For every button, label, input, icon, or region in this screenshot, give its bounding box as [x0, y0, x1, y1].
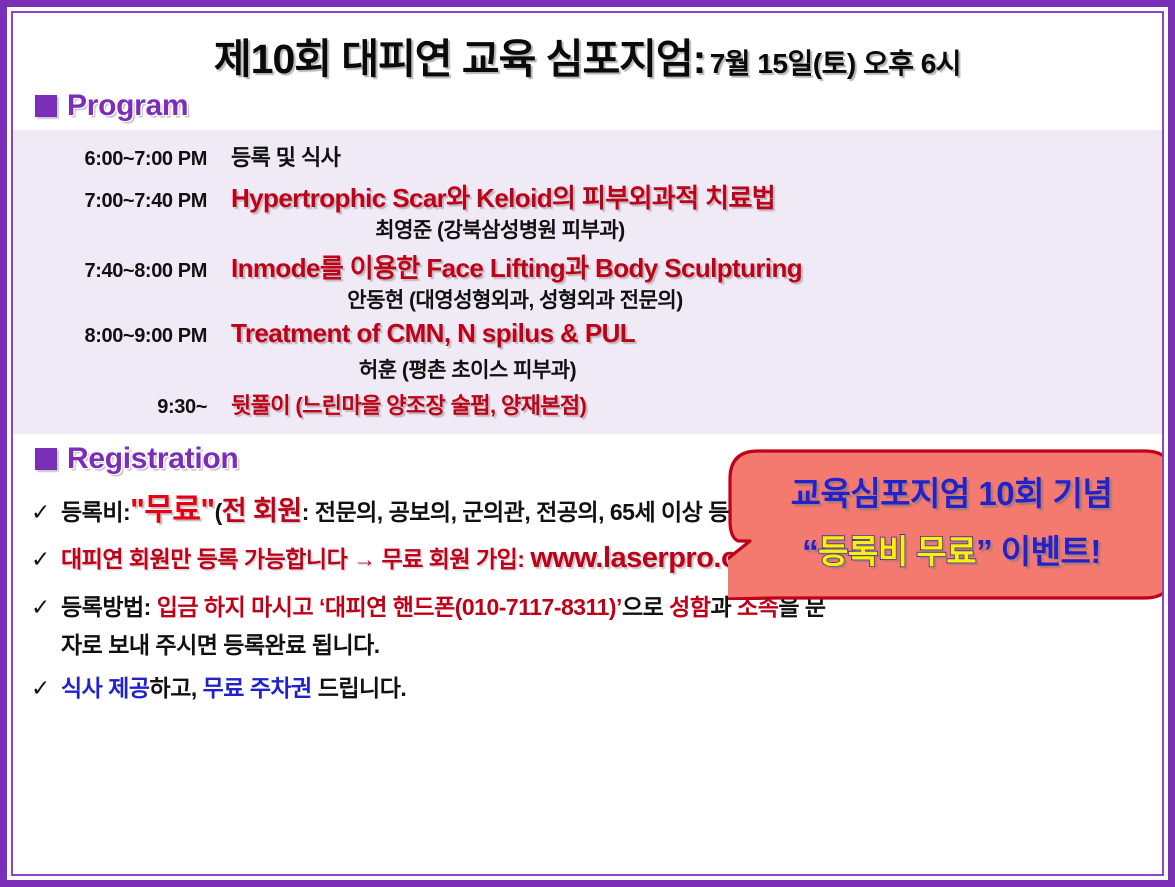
program-title: Hypertrophic Scar와 Keloid의 피부외과적 치료법	[231, 178, 1162, 215]
table-row: 7:00~7:40 PM Hypertrophic Scar와 Keloid의 …	[13, 178, 1162, 216]
program-title: Inmode를 이용한 Face Lifting과 Body Sculpturi…	[231, 248, 1162, 285]
checkmark-icon: ✓	[31, 501, 61, 524]
program-speaker: 허훈 (평촌 초이스 피부과)	[13, 354, 1162, 384]
text-run: : 전문의, 공보의, 군의관, 전공의, 65세 이상 등	[302, 499, 735, 525]
text-run: 무료 주차권	[203, 675, 312, 701]
program-title: 뒷풀이 (느린마을 양조장 술펍, 양재본점)	[231, 388, 1162, 420]
callout-quote-open: “	[802, 533, 818, 570]
callout-tail: 이벤트!	[992, 533, 1101, 570]
poster-frame: 제10회 대피연 교육 심포지엄: 7월 15일(토) 오후 6시 Progra…	[0, 0, 1175, 887]
text-run: 식사 제공	[61, 675, 150, 701]
text-run: 대피연 회원만 등록 가능합니다 → 무료 회원 가입:	[61, 546, 530, 572]
checkmark-icon: ✓	[31, 548, 61, 571]
text-run: 전 회원	[222, 496, 302, 526]
text-run: 으로	[622, 594, 669, 620]
callout-highlight: 등록비 무료	[818, 533, 976, 570]
callout-line-1: 교육심포지엄 10회 기념	[728, 467, 1164, 515]
text-run: 하고,	[150, 675, 203, 701]
text-run: 성함	[669, 594, 710, 620]
program-time: 6:00~7:00 PM	[13, 148, 231, 171]
callout-quote-close: ”	[976, 533, 992, 570]
table-row: 9:30~ 뒷풀이 (느린마을 양조장 술펍, 양재본점)	[13, 388, 1162, 426]
text-run: 입금 하지 마시고 ‘대피연 핸드폰(010-7117-8311)’	[157, 594, 622, 620]
table-row: 8:00~9:00 PM Treatment of CMN, N spilus …	[13, 318, 1162, 356]
section-label-program: Program	[67, 89, 188, 123]
program-time: 9:30~	[13, 396, 231, 419]
section-label-registration: Registration	[67, 442, 238, 476]
registration-method-text-cont: 자로 보내 주시면 등록완료 됩니다.	[61, 626, 1148, 660]
program-speaker: 최영준 (강북삼성병원 피부과)	[13, 214, 1162, 244]
list-item-continuation: 자로 보내 주시면 등록완료 됩니다.	[13, 626, 1162, 660]
page-title: 제10회 대피연 교육 심포지엄: 7월 15일(토) 오후 6시	[13, 13, 1162, 85]
checkmark-icon: ✓	[31, 677, 61, 700]
text-run: 등록비:	[61, 499, 130, 525]
promo-callout-bubble: 교육심포지엄 10회 기념 “등록비 무료” 이벤트!	[728, 449, 1164, 600]
callout-line-2: “등록비 무료” 이벤트!	[728, 525, 1164, 573]
program-time: 7:40~8:00 PM	[13, 260, 231, 283]
text-run: "무료"	[130, 492, 214, 527]
program-title: Treatment of CMN, N spilus & PUL	[231, 318, 1162, 349]
title-main-text: 제10회 대피연 교육 심포지엄:	[214, 36, 705, 82]
square-bullet-icon	[35, 95, 57, 117]
program-time: 8:00~9:00 PM	[13, 325, 231, 348]
checkmark-icon: ✓	[31, 596, 61, 619]
registration-perks-text: 식사 제공하고, 무료 주차권 드립니다.	[61, 669, 1148, 703]
title-date-time: 7월 15일(토) 오후 6시	[710, 48, 961, 79]
table-row: 6:00~7:00 PM 등록 및 식사	[13, 140, 1162, 178]
text-run: 드립니다.	[312, 675, 406, 701]
text-run: (	[215, 499, 222, 525]
table-row: 7:40~8:00 PM Inmode를 이용한 Face Lifting과 B…	[13, 248, 1162, 286]
section-header-program: Program	[13, 89, 1162, 123]
program-time: 7:00~7:40 PM	[13, 190, 231, 213]
program-speaker: 안동현 (대영성형외과, 성형외과 전문의)	[13, 284, 1162, 314]
poster-inner-frame: 제10회 대피연 교육 심포지엄: 7월 15일(토) 오후 6시 Progra…	[11, 11, 1164, 876]
text-run: 등록방법:	[61, 594, 157, 620]
square-bullet-icon	[35, 448, 57, 470]
list-item: ✓ 식사 제공하고, 무료 주차권 드립니다.	[13, 669, 1162, 703]
program-title: 등록 및 식사	[231, 140, 1162, 172]
program-table: 6:00~7:00 PM 등록 및 식사 7:00~7:40 PM Hypert…	[13, 130, 1162, 434]
